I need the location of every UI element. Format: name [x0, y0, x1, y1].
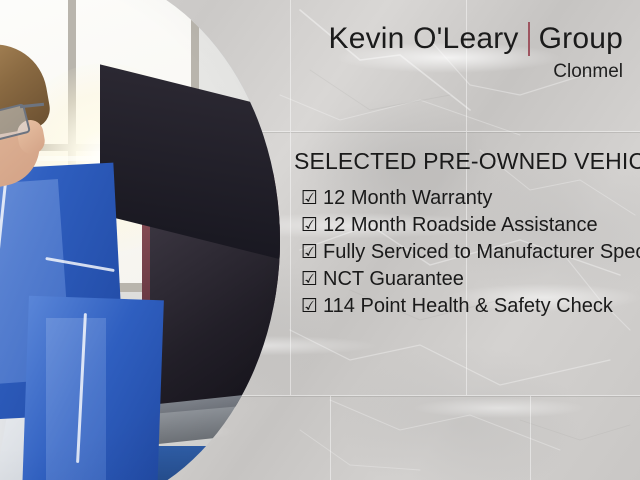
brand-location: Clonmel	[329, 62, 623, 81]
list-item: ☑ 114 Point Health & Safety Check	[301, 296, 640, 316]
photo-vignette	[0, 0, 280, 480]
feature-list: ☑ 12 Month Warranty ☑ 12 Month Roadside …	[301, 188, 640, 323]
tile-grout-vertical	[330, 396, 331, 480]
checkbox-checked-icon: ☑	[301, 216, 318, 235]
tile-grout-vertical	[530, 396, 531, 480]
advert-banner: Kevin O'Leary Group Clonmel SELECTED PRE…	[0, 0, 640, 480]
feature-label: NCT Guarantee	[323, 269, 464, 289]
brand-name-primary: Kevin O'Leary	[329, 24, 519, 54]
checkbox-checked-icon: ☑	[301, 189, 318, 208]
checkbox-checked-icon: ☑	[301, 297, 318, 316]
feature-label: Fully Serviced to Manufacturer Spec	[323, 242, 640, 262]
tile-grout-vertical	[290, 0, 291, 131]
feature-label: 12 Month Warranty	[323, 188, 492, 208]
checkbox-checked-icon: ☑	[301, 270, 318, 289]
brand-logo: Kevin O'Leary Group Clonmel	[329, 22, 623, 81]
feature-label: 114 Point Health & Safety Check	[323, 296, 613, 316]
mechanic-photo	[0, 0, 280, 480]
list-item: ☑ 12 Month Roadside Assistance	[301, 215, 640, 235]
list-item: ☑ 12 Month Warranty	[301, 188, 640, 208]
tile-grout-vertical	[290, 132, 291, 395]
logo-divider	[528, 22, 530, 56]
list-item: ☑ Fully Serviced to Manufacturer Spec	[301, 242, 640, 262]
feature-label: 12 Month Roadside Assistance	[323, 215, 598, 235]
list-item: ☑ NCT Guarantee	[301, 269, 640, 289]
page-title: SELECTED PRE-OWNED VEHICLES	[294, 150, 640, 173]
brand-name-secondary: Group	[539, 24, 623, 54]
checkbox-checked-icon: ☑	[301, 243, 318, 262]
